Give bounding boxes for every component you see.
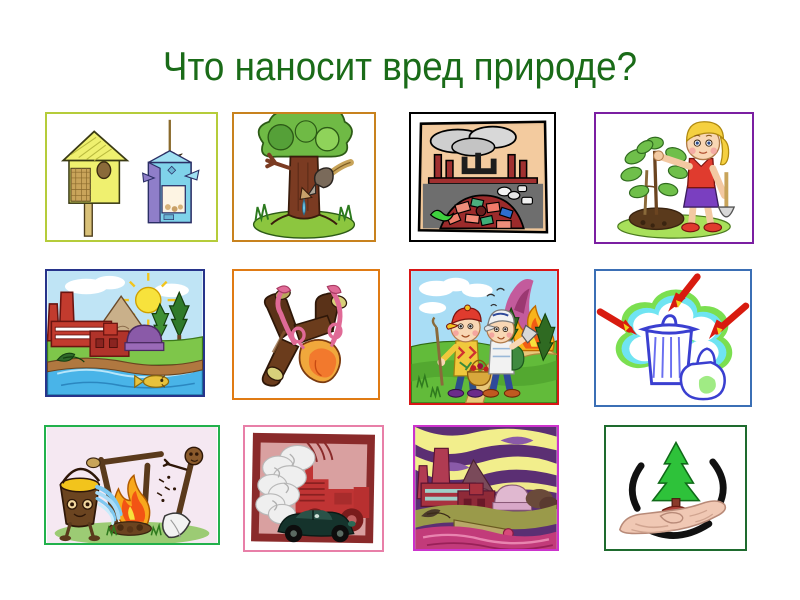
- axe-chopping-tree-illustration: [234, 114, 374, 240]
- cell-axe-chopping-tree[interactable]: [232, 112, 376, 242]
- polluted-landscape-illustration: [415, 427, 557, 549]
- cell-garbage-dump-and-factory[interactable]: [409, 112, 556, 242]
- extinguishing-campfire-illustration: [46, 427, 218, 543]
- slingshot-illustration: [234, 271, 378, 398]
- cell-vehicle-exhaust-smoke[interactable]: [243, 425, 384, 552]
- girl-planting-tree-illustration: [596, 114, 752, 242]
- cell-polluted-industrial-landscape[interactable]: [413, 425, 559, 551]
- cell-extinguishing-campfire[interactable]: [44, 425, 220, 545]
- hand-holding-fir-tree-illustration: [606, 427, 745, 549]
- birdhouse-and-feeder-illustration: [47, 114, 216, 240]
- picture-grid: [44, 112, 760, 564]
- cell-hand-holding-fir-tree[interactable]: [604, 425, 747, 551]
- forest-fire-illustration: [411, 271, 557, 403]
- factory-polluting-river-illustration: [47, 271, 203, 395]
- vehicle-exhaust-illustration: [245, 427, 382, 550]
- cell-people-leaving-forest-fire[interactable]: [409, 269, 559, 405]
- cell-girl-planting-tree[interactable]: [594, 112, 754, 244]
- slide-canvas: Что наносит вред природе?: [0, 0, 800, 600]
- cell-factory-polluting-river[interactable]: [45, 269, 205, 397]
- trash-can-arrows-illustration: [596, 271, 750, 405]
- garbage-dump-illustration: [411, 114, 554, 240]
- cell-birdhouse-and-feeder[interactable]: [45, 112, 218, 242]
- page-title: Что наносит вред природе?: [32, 44, 768, 90]
- cell-slingshot[interactable]: [232, 269, 380, 400]
- cell-trash-can-with-arrows[interactable]: [594, 269, 752, 407]
